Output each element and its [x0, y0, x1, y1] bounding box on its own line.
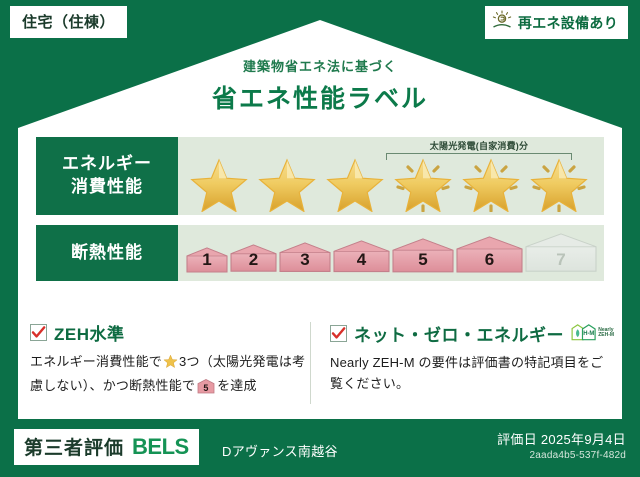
insulation-level-6: 6	[456, 236, 523, 273]
zeh-m-house-logo: H-M Nearly ZEH-M	[571, 320, 622, 346]
zeh-checkbox[interactable]	[30, 324, 47, 341]
zeh-desc-part1: エネルギー消費性能で	[30, 354, 162, 369]
star-solar	[526, 154, 592, 212]
nze-title: ネット・ゼロ・エネルギー	[354, 321, 564, 346]
star-base	[186, 154, 252, 212]
criteria-column-divider	[310, 322, 311, 404]
solar-sun-icon	[491, 10, 513, 35]
insulation-level-7: 7	[525, 233, 597, 272]
energy-performance-stars-area: 太陽光発電(自家消費)分	[178, 137, 604, 215]
zeh-desc-part3: を達成	[217, 378, 257, 393]
renewable-equipment-badge: 再エネ設備あり	[485, 6, 628, 39]
star-base	[322, 154, 388, 212]
evaluation-date: 評価日 2025年9月4日	[497, 429, 626, 448]
svg-text:5: 5	[204, 384, 209, 394]
dwelling-type-tag: 住宅（住棟）	[10, 6, 127, 38]
insulation-level-2: 2	[230, 244, 277, 272]
zeh-title: ZEH水準	[54, 320, 125, 345]
insulation-label-text: 断熱性能	[71, 242, 143, 265]
insulation-level-4: 4	[333, 240, 390, 273]
bels-en-label: BELS	[132, 434, 189, 460]
energy-performance-row: エネルギー 消費性能 太陽光発電(自家消費)分	[36, 137, 604, 215]
insulation-level-3: 3	[279, 242, 331, 272]
zeh-m-logo-sub: Nearly ZEH-M	[598, 328, 622, 339]
title-subtitle: 建築物省エネ法に基づく	[0, 56, 640, 75]
insulation-performance-row: 断熱性能 1	[36, 225, 604, 281]
criterion-zeh: ZEH水準 エネルギー消費性能で3つ（太陽光発電は考慮しない）、かつ断熱性能で5…	[30, 320, 316, 401]
nze-description: Nearly ZEH-M の要件は評価書の特記項目をご覧ください。	[330, 352, 616, 395]
zeh-description: エネルギー消費性能で3つ（太陽光発電は考慮しない）、かつ断熱性能で5を達成	[30, 351, 316, 401]
criterion-net-zero-energy: ネット・ゼロ・エネルギー H-M Nearly ZEH-M Nearly ZEH…	[330, 320, 616, 401]
criteria-section: ZEH水準 エネルギー消費性能で3つ（太陽光発電は考慮しない）、かつ断熱性能で5…	[30, 320, 616, 401]
house-badge-5-icon: 5	[197, 379, 215, 400]
ratings-section: エネルギー 消費性能 太陽光発電(自家消費)分	[36, 137, 604, 291]
property-name: Dアヴァンス南越谷	[222, 441, 338, 460]
evaluation-id: 2aada4b5-537f-482d	[530, 450, 626, 461]
bels-jp-label: 第三者評価	[24, 433, 124, 460]
nze-checkbox[interactable]	[330, 325, 347, 342]
zeh-heading: ZEH水準	[30, 320, 316, 345]
insulation-level-5: 5	[392, 238, 454, 273]
star-solar	[458, 154, 524, 212]
star-icon	[163, 354, 178, 375]
energy-performance-label: エネルギー 消費性能	[36, 137, 178, 215]
solar-annotation-label: 太陽光発電(自家消費)分	[386, 139, 572, 152]
nze-heading: ネット・ゼロ・エネルギー H-M Nearly ZEH-M	[330, 320, 616, 346]
footer-bar: 第三者評価 BELS Dアヴァンス南越谷 評価日 2025年9月4日 2aada…	[0, 419, 640, 477]
energy-label-line2: 消費性能	[71, 176, 143, 199]
label-title-block: 建築物省エネ法に基づく 省エネ性能ラベル	[0, 56, 640, 115]
insulation-level-scale: 1 2	[186, 228, 597, 277]
renewable-badge-label: 再エネ設備あり	[518, 13, 618, 33]
insulation-levels-area: 1 2	[178, 225, 604, 281]
bels-certification-box: 第三者評価 BELS	[14, 429, 199, 465]
insulation-level-1: 1	[186, 247, 228, 273]
energy-label-line1: エネルギー	[62, 153, 152, 176]
svg-text:H-M: H-M	[583, 331, 594, 337]
insulation-performance-label: 断熱性能	[36, 225, 178, 281]
star-solar	[390, 154, 456, 212]
title-main: 省エネ性能ラベル	[0, 79, 640, 115]
star-base	[254, 154, 320, 212]
energy-label-root: 住宅（住棟） 再エネ設備あり 建築物省エネ法に基づく 省エネ性能ラベル	[0, 0, 640, 477]
energy-star-rating	[186, 154, 592, 212]
